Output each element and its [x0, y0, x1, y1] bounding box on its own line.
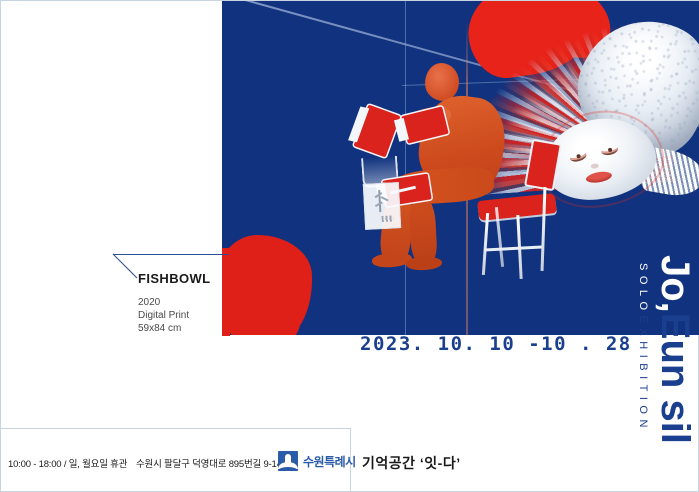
- caption-dimensions: 59x84 cm: [138, 322, 189, 335]
- red-vertical-strip: [222, 248, 230, 336]
- caption-meta: 2020 Digital Print 59x84 cm: [138, 296, 189, 335]
- suwon-city-logo: 수원특례시: [278, 451, 356, 471]
- artist-title-rail: Jo,Eun sil SOLOEXHIBITION: [604, 1, 699, 492]
- suwon-logo-icon: [278, 451, 298, 471]
- artist-name-part1: Jo,: [653, 255, 697, 313]
- exhibition-poster: Jo,Eun sil SOLOEXHIBITION 2023. 10. 10 -…: [0, 0, 699, 492]
- chair-leg-1: [482, 213, 489, 275]
- opening-hours: 10:00 - 18:00 / 일, 월요일 휴관: [8, 456, 127, 470]
- logo-wave-shape-b: [278, 467, 298, 471]
- book-pages: [348, 106, 369, 142]
- exhibition-type-part1: SOLO: [637, 263, 649, 316]
- chair-rail: [484, 245, 542, 251]
- caption-medium: Digital Print: [138, 309, 189, 322]
- figure-head: [425, 63, 459, 101]
- caption-year: 2020: [138, 296, 189, 309]
- terrarium-label: [382, 215, 394, 222]
- face-nose: [590, 163, 598, 169]
- glass-terrarium-box: [363, 182, 401, 230]
- perspective-vertical-line: [405, 1, 406, 335]
- venue-name: 기억공간 ‘잇-다’: [362, 453, 461, 473]
- figure-shin-back: [408, 196, 437, 263]
- artist-name-part2: Eun sil: [653, 313, 697, 444]
- floating-book-1: [354, 105, 401, 158]
- exhibition-type-vertical: SOLOEXHIBITION: [637, 263, 649, 433]
- book-pages: [394, 118, 409, 142]
- caption-title: FISHBOWL: [138, 271, 211, 286]
- suwon-logo-text: 수원특례시: [303, 453, 356, 470]
- figure-foot-back: [406, 256, 443, 271]
- exhibition-date: 2023. 10. 10 -10 . 28: [360, 333, 632, 355]
- frame-border-left: [0, 0, 1, 492]
- footer-divider-horizontal: [0, 428, 350, 429]
- venue-address: 수원시 팔달구 덕영대로 895번길 9-14: [136, 456, 282, 470]
- exhibition-type-part2: EXHIBITION: [637, 316, 649, 433]
- artist-name-vertical: Jo,Eun sil: [655, 255, 695, 491]
